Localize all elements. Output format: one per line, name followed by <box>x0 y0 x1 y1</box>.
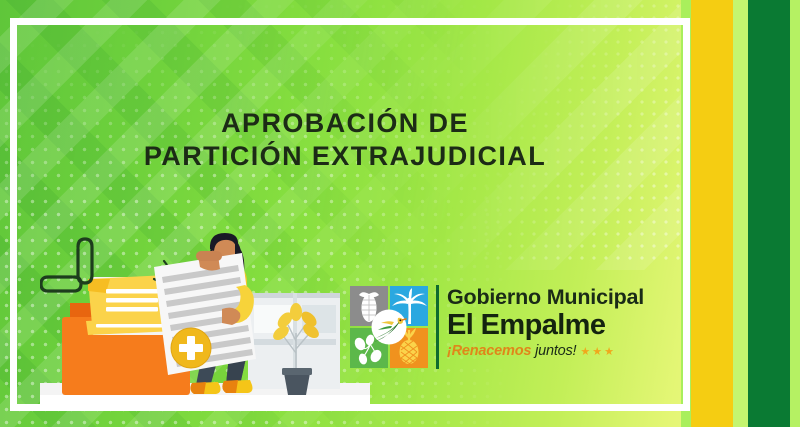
logo-lockup: Gobierno Municipal El Empalme ¡Renacemos… <box>350 284 650 376</box>
plus-badge-icon <box>171 328 211 368</box>
paperclip-icon-2 <box>41 277 81 291</box>
stripe-dark-green <box>748 0 790 427</box>
banner-image: APROBACIÓN DE PARTICIÓN EXTRAJUDICIAL <box>0 0 800 427</box>
stripe-light-green-3 <box>790 0 800 427</box>
illustration-document-approval <box>40 225 370 410</box>
logo-slogan: ¡Renacemos juntos!★★★ <box>447 342 657 360</box>
logo-org-line-2: El Empalme <box>447 310 657 341</box>
stripe-light-green-1 <box>681 0 691 427</box>
slogan-light-part: juntos! <box>531 343 576 359</box>
page-title: APROBACIÓN DE PARTICIÓN EXTRAJUDICIAL <box>0 107 690 173</box>
stripe-yellow <box>691 0 733 427</box>
municipality-shield-icon <box>350 286 428 368</box>
paperclip-icon <box>78 239 92 283</box>
slogan-stars: ★★★ <box>580 346 616 358</box>
title-line-1: APROBACIÓN DE <box>221 108 469 138</box>
slogan-bold-part: ¡Renacemos <box>447 343 531 359</box>
logo-text-block: Gobierno Municipal El Empalme ¡Renacemos… <box>447 284 657 360</box>
logo-divider <box>436 285 439 369</box>
logo-org-line-1: Gobierno Municipal <box>447 284 657 310</box>
stripe-light-green-2 <box>733 0 748 427</box>
title-line-2: PARTICIÓN EXTRAJUDICIAL <box>0 140 690 173</box>
